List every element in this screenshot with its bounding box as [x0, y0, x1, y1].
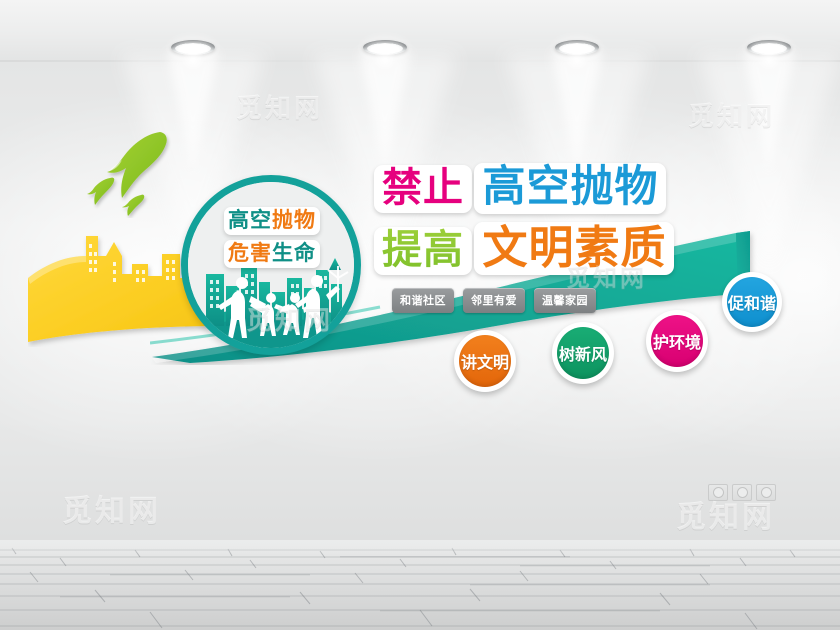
power-outlet-icon[interactable] — [732, 484, 752, 501]
bubble-shuxinfeng: 树新风 — [552, 322, 614, 384]
bubble-fill: 讲文明 — [459, 335, 511, 387]
headline-line-2: 提高 文明素质 — [374, 222, 714, 275]
emblem-line2-a: 危害 — [228, 241, 272, 265]
emblem-line1-b: 抛物 — [272, 208, 316, 232]
bubble-fill: 促和谐 — [727, 277, 777, 327]
power-outlet-icon[interactable] — [756, 484, 776, 501]
emblem-line1-a: 高空 — [228, 208, 272, 232]
emblem-line2-b: 生命 — [272, 241, 316, 265]
headline-text-wenming: 文明素质 — [482, 221, 666, 274]
bubble-fill: 树新风 — [557, 327, 609, 379]
headline-text-gaokong: 高空抛物 — [482, 162, 658, 212]
tag-pill: 邻里有爱 — [463, 288, 525, 313]
tag-pill: 温馨家园 — [534, 288, 596, 313]
headline-chip-gaokong: 高空抛物 — [474, 163, 666, 214]
emblem-badge: 高空抛物 危害生命 — [181, 175, 361, 355]
outlet-dot — [761, 487, 772, 498]
outlet-dot — [737, 487, 748, 498]
tag-pill: 和谐社区 — [392, 288, 454, 313]
emblem-text: 高空抛物 危害生命 — [195, 207, 347, 268]
bubble-label: 促和谐 — [728, 290, 776, 314]
headline-chip-tigao: 提高 — [374, 227, 472, 275]
bubble-fill: 护环境 — [651, 315, 703, 367]
dove-icon — [86, 128, 186, 218]
headline-text-ban: 禁止 — [382, 165, 464, 211]
bubble-jiangwenming: 讲文明 — [454, 330, 516, 392]
tag-row: 和谐社区 邻里有爱 温馨家园 — [392, 288, 596, 313]
wall-mockup-scene: 高空抛物 危害生命 禁止 高空抛物 — [0, 0, 840, 630]
bubble-huhuanjing: 护环境 — [646, 310, 708, 372]
power-outlet-icon[interactable] — [708, 484, 728, 501]
outlet-dot — [713, 487, 724, 498]
headline-text-tigao: 提高 — [382, 227, 464, 273]
bubble-cuhexie: 促和谐 — [722, 272, 782, 332]
wall-artwork: 高空抛物 危害生命 禁止 高空抛物 — [0, 0, 840, 630]
bubble-label: 护环境 — [653, 329, 701, 353]
wall-sockets[interactable] — [708, 484, 776, 501]
headline-line-1: 禁止 高空抛物 — [374, 163, 714, 214]
headline-chip-wenming: 文明素质 — [474, 222, 674, 275]
bubble-label: 讲文明 — [461, 349, 509, 373]
bubble-label: 树新风 — [559, 341, 607, 365]
headline-chip-ban: 禁止 — [374, 165, 472, 213]
headline: 禁止 高空抛物 提高 文明素质 — [374, 163, 714, 275]
